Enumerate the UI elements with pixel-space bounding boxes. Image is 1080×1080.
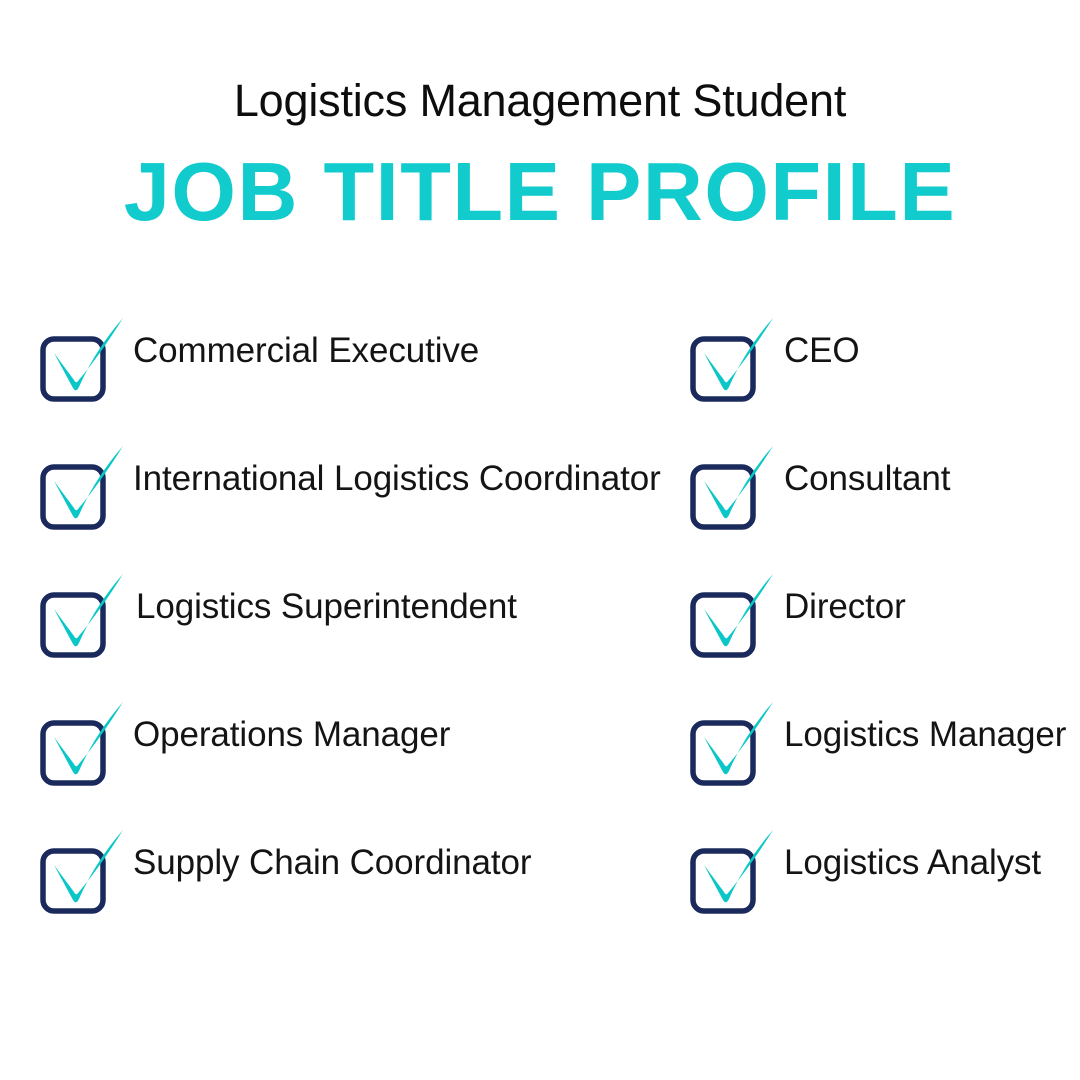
checkbox-checked-icon[interactable] [40,818,130,908]
list-item-label: Commercial Executive [133,306,479,396]
list-item[interactable]: Director [690,562,1080,690]
header: Logistics Management Student JOB TITLE P… [0,0,1080,238]
list-item-label: CEO [784,306,860,396]
list-item-label: Logistics Manager [784,690,1066,780]
checkbox-checked-icon[interactable] [690,306,780,396]
checkbox-checked-icon[interactable] [690,434,780,524]
page-title: JOB TITLE PROFILE [0,132,1080,238]
checkbox-checked-icon[interactable] [40,306,130,396]
list-item[interactable]: Consultant [690,434,1080,562]
list-item[interactable]: Operations Manager [40,690,690,818]
list-item-label: Supply Chain Coordinator [133,818,531,908]
list-item[interactable]: Logistics Superintendent [40,562,690,690]
list-item[interactable]: Commercial Executive [40,306,690,434]
checkbox-checked-icon[interactable] [690,690,780,780]
list-item[interactable]: Logistics Manager [690,690,1080,818]
list-item-label: Director [784,562,906,652]
list-item-label: Operations Manager [133,690,450,780]
checkbox-checked-icon[interactable] [690,818,780,908]
list-item-label: International Logistics Coordinator [133,434,661,524]
list-item[interactable]: CEO [690,306,1080,434]
checkbox-checked-icon[interactable] [40,434,130,524]
job-title-checklist: Commercial Executive CEO International L… [0,306,1080,946]
list-item[interactable]: Supply Chain Coordinator [40,818,690,946]
list-item-label: Logistics Superintendent [136,562,517,652]
checkbox-checked-icon[interactable] [690,562,780,652]
list-item-label: Logistics Analyst [784,818,1041,908]
list-item[interactable]: Logistics Analyst [690,818,1080,946]
page-subtitle: Logistics Management Student [0,0,1080,132]
checkbox-checked-icon[interactable] [40,562,130,652]
poster-canvas: Logistics Management Student JOB TITLE P… [0,0,1080,1080]
list-item-label: Consultant [784,434,950,524]
list-item[interactable]: International Logistics Coordinator [40,434,690,562]
checkbox-checked-icon[interactable] [40,690,130,780]
